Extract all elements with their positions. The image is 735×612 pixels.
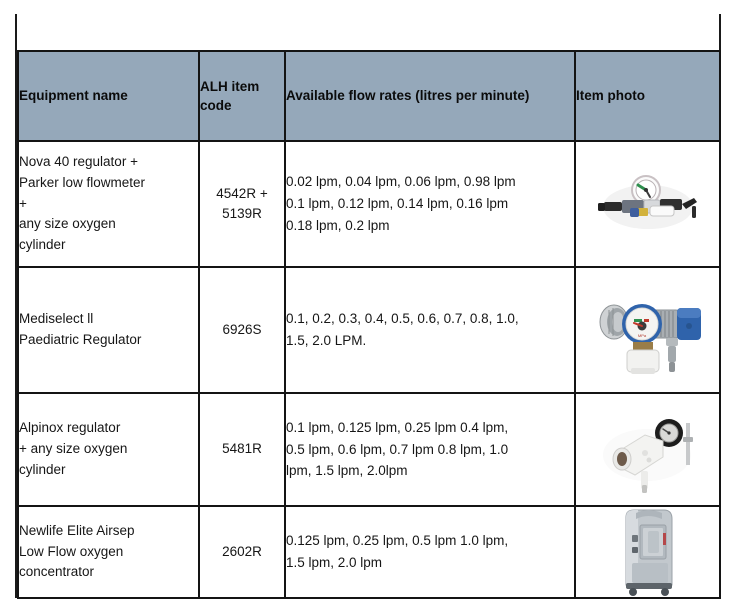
cell-equipment-name: Mediselect ll Paediatric Regulator bbox=[18, 267, 199, 393]
column-header-equipment-name: Equipment name bbox=[18, 51, 199, 141]
cell-item-code: 4542R + 5139R bbox=[199, 141, 285, 267]
paediatric-regulator-image: MPa bbox=[587, 280, 709, 380]
nova-40-regulator-flowmeter-photo bbox=[576, 142, 719, 266]
alpinox-regulator-photo bbox=[576, 394, 719, 505]
cell-flow-rates: 0.02 lpm, 0.04 lpm, 0.06 lpm, 0.98 lpm 0… bbox=[285, 141, 575, 267]
cell-flow-rates: 0.1, 0.2, 0.3, 0.4, 0.5, 0.6, 0.7, 0.8, … bbox=[285, 267, 575, 393]
table-header: Equipment name ALH item code Available f… bbox=[18, 51, 720, 141]
cell-item-code: 6926S bbox=[199, 267, 285, 393]
cell-item-photo: MPa bbox=[575, 267, 720, 393]
table-row: Alpinox regulator + any size oxygen cyli… bbox=[18, 393, 720, 506]
mediselect-paediatric-regulator-photo: MPa bbox=[576, 268, 719, 392]
table-body: Nova 40 regulator + Parker low flowmeter… bbox=[18, 141, 720, 598]
cell-item-code: 2602R bbox=[199, 506, 285, 598]
equipment-table-frame: Equipment name ALH item code Available f… bbox=[15, 14, 721, 598]
table-row: Newlife Elite Airsep Low Flow oxygen con… bbox=[18, 506, 720, 598]
table-row: Nova 40 regulator + Parker low flowmeter… bbox=[18, 141, 720, 267]
table-row: Mediselect ll Paediatric Regulator 6926S… bbox=[18, 267, 720, 393]
oxygen-concentrator-image bbox=[612, 507, 684, 597]
header-row: Equipment name ALH item code Available f… bbox=[18, 51, 720, 141]
newlife-elite-airsep-concentrator-photo bbox=[576, 507, 719, 597]
cell-flow-rates: 0.125 lpm, 0.25 lpm, 0.5 lpm 1.0 lpm, 1.… bbox=[285, 506, 575, 598]
cell-equipment-name: Alpinox regulator + any size oxygen cyli… bbox=[18, 393, 199, 506]
column-header-alh-item-code: ALH item code bbox=[199, 51, 285, 141]
cell-flow-rates: 0.1 lpm, 0.125 lpm, 0.25 lpm 0.4 lpm, 0.… bbox=[285, 393, 575, 506]
column-header-item-photo: Item photo bbox=[575, 51, 720, 141]
cell-equipment-name: Nova 40 regulator + Parker low flowmeter… bbox=[18, 141, 199, 267]
alpinox-regulator-image bbox=[589, 405, 707, 495]
cell-item-photo bbox=[575, 141, 720, 267]
regulator-flowmeter-image bbox=[588, 162, 708, 246]
cell-item-code: 5481R bbox=[199, 393, 285, 506]
column-header-flow-rates: Available flow rates (litres per minute) bbox=[285, 51, 575, 141]
svg-text:MPa: MPa bbox=[637, 333, 646, 338]
page-root: Paediatric and low flow oxygen equipment… bbox=[0, 0, 735, 612]
equipment-table: Equipment name ALH item code Available f… bbox=[17, 50, 721, 599]
cell-item-photo bbox=[575, 506, 720, 598]
cell-item-photo bbox=[575, 393, 720, 506]
cell-equipment-name: Newlife Elite Airsep Low Flow oxygen con… bbox=[18, 506, 199, 598]
